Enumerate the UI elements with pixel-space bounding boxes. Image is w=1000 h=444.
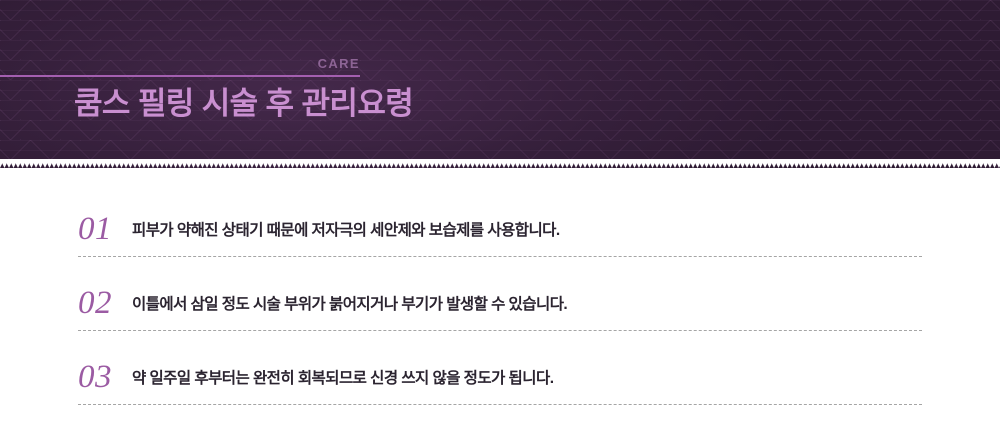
list-item: 02 이틀에서 삼일 정도 시술 부위가 붉어지거나 부기가 발생할 수 있습니… [78,266,922,340]
list-item-number: 01 [78,213,132,246]
list-item-text: 약 일주일 후부터는 완전히 회복되므로 신경 쓰지 않을 정도가 됩니다. [132,366,922,388]
section-banner: CARE 쿰스 필링 시술 후 관리요령 [0,0,1000,168]
list-item-text: 이틀에서 삼일 정도 시술 부위가 붉어지거나 부기가 발생할 수 있습니다. [132,292,922,314]
list-divider [78,330,922,331]
list-item-text: 피부가 약해진 상태기 때문에 저자극의 세안제와 보습제를 사용합니다. [132,218,922,240]
banner-eyebrow: CARE [0,56,360,71]
care-page: CARE 쿰스 필링 시술 후 관리요령 01 피부가 약해진 상태기 때문에 … [0,0,1000,444]
list-item-number: 02 [78,287,132,320]
list-item-number: 03 [78,361,132,394]
list-divider [78,404,922,405]
care-steps-list: 01 피부가 약해진 상태기 때문에 저자극의 세안제와 보습제를 사용합니다.… [0,168,1000,444]
list-item: 03 약 일주일 후부터는 완전히 회복되므로 신경 쓰지 않을 정도가 됩니다… [78,340,922,414]
sawtooth-edge [0,159,1000,168]
list-divider [78,256,922,257]
banner-content: CARE 쿰스 필링 시술 후 관리요령 [0,0,1000,168]
banner-rule-divider [0,75,360,77]
list-item: 01 피부가 약해진 상태기 때문에 저자극의 세안제와 보습제를 사용합니다. [78,192,922,266]
page-title: 쿰스 필링 시술 후 관리요령 [74,78,413,123]
